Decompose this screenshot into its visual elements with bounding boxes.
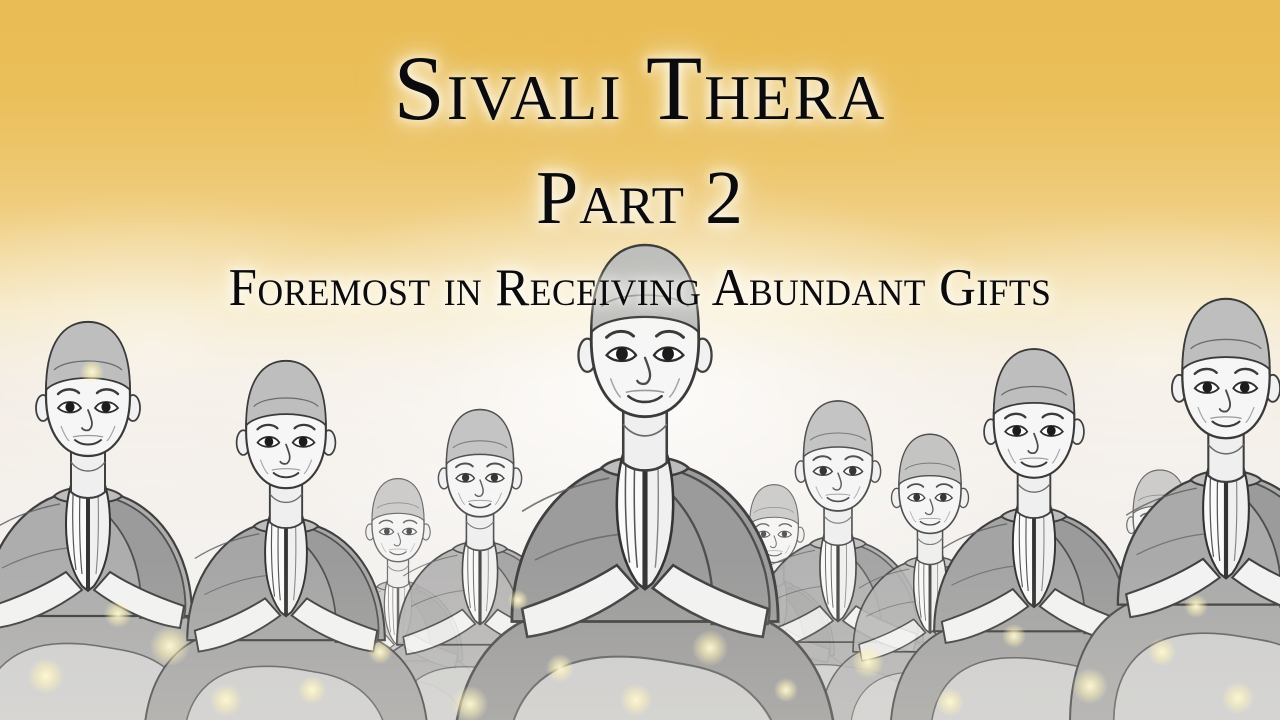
part-subtitle: Part 2	[0, 160, 1280, 236]
epithet-subtitle: Foremost in Receiving Abundant Gifts	[26, 262, 1255, 315]
monk-far-right	[1070, 299, 1280, 720]
title-card-slide: Sivali Thera Part 2 Foremost in Receivin…	[0, 0, 1280, 720]
page-title: Sivali Thera	[0, 42, 1280, 134]
